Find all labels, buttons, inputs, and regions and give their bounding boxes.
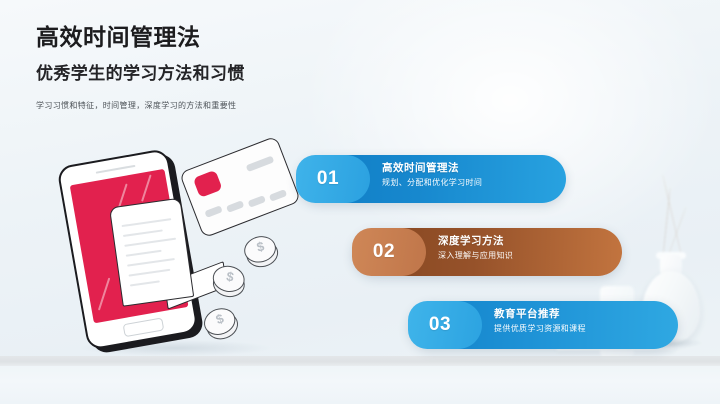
hero-illustration: $ $ $ xyxy=(60,140,310,365)
step-card-text: 深度学习方法 深入理解与应用知识 xyxy=(438,235,513,262)
card-stripe xyxy=(246,156,275,173)
step-number-badge: 03 xyxy=(408,301,482,349)
step-card-text: 教育平台推荐 提供优质学习资源和课程 xyxy=(494,308,586,335)
page-subtitle: 优秀学生的学习方法和习惯 xyxy=(36,64,366,84)
coin-symbol: $ xyxy=(213,266,247,286)
step-description: 规划、分配和优化学习时间 xyxy=(382,178,482,188)
receipt-paper xyxy=(109,198,194,307)
step-number-badge: 02 xyxy=(352,228,426,276)
step-number: 02 xyxy=(373,241,405,263)
step-card-2[interactable]: 02 深度学习方法 深入理解与应用知识 xyxy=(352,228,622,276)
coin-symbol: $ xyxy=(202,306,237,331)
step-card-3[interactable]: 03 教育平台推荐 提供优质学习资源和课程 xyxy=(408,301,678,349)
receipt-line xyxy=(123,229,163,236)
receipt-line xyxy=(127,258,175,266)
presentation-slide: 高效时间管理法 优秀学生的学习方法和习惯 学习习惯和特征，时间管理，深度学习的方… xyxy=(0,0,720,404)
coin-symbol: $ xyxy=(243,236,278,258)
title-block: 高效时间管理法 优秀学生的学习方法和习惯 学习习惯和特征，时间管理，深度学习的方… xyxy=(36,24,366,112)
coin-icon: $ xyxy=(241,232,282,273)
step-description: 深入理解与应用知识 xyxy=(438,251,513,261)
receipt-icon xyxy=(109,197,197,312)
card-stripe xyxy=(248,195,266,208)
coin-icon: $ xyxy=(209,263,248,302)
page-description: 学习习惯和特征，时间管理，深度学习的方法和重要性 xyxy=(36,100,366,112)
floor-surface xyxy=(0,366,720,404)
card-chip xyxy=(193,170,223,198)
receipt-line xyxy=(126,250,162,256)
step-title: 教育平台推荐 xyxy=(494,308,586,321)
step-number: 01 xyxy=(317,168,349,190)
card-stripe xyxy=(204,205,222,218)
step-card-text: 高效时间管理法 规划、分配和优化学习时间 xyxy=(382,162,482,189)
page-title: 高效时间管理法 xyxy=(36,24,366,52)
receipt-line xyxy=(130,280,160,286)
receipt-line xyxy=(122,218,172,226)
step-title: 深度学习方法 xyxy=(438,235,513,248)
receipt-line xyxy=(124,238,176,247)
card-stripe xyxy=(226,200,244,213)
screen-gloss xyxy=(141,174,152,201)
step-number-badge: 01 xyxy=(296,155,370,203)
step-number: 03 xyxy=(429,314,461,336)
phone-home-button xyxy=(123,317,165,337)
phone-speaker xyxy=(96,165,136,174)
screen-gloss xyxy=(98,278,111,311)
step-card-1[interactable]: 01 高效时间管理法 规划、分配和优化学习时间 xyxy=(296,155,566,203)
step-title: 高效时间管理法 xyxy=(382,162,482,175)
step-description: 提供优质学习资源和课程 xyxy=(494,324,586,334)
receipt-line xyxy=(128,269,170,276)
card-stripe xyxy=(269,189,287,202)
credit-card-icon xyxy=(179,136,301,239)
